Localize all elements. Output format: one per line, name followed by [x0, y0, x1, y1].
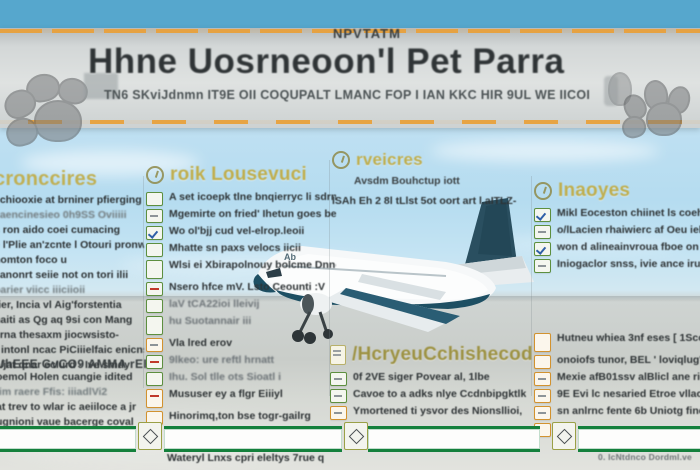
- progress-bar[interactable]: [368, 426, 540, 452]
- text-line: lim raere Ffis: iiiadlVi2: [0, 386, 146, 399]
- checkbox-marked-icon[interactable]: [146, 355, 163, 369]
- list-item[interactable]: onoiofs tunor, BEL ' loviqlug'r: [534, 354, 700, 369]
- text-line: nomton foco u: [0, 254, 144, 267]
- list-item[interactable]: 9E Evi lc nesaried Etroe vllact va nun: [534, 388, 700, 403]
- text-line: crna thesaxm jiocwsisto-: [0, 329, 144, 342]
- checklist: Mikl Eoceston chiinet ls coehooechu o/lL…: [534, 207, 700, 273]
- section-header: roik Lousevuci: [146, 164, 336, 186]
- list-item-label: Hutneu whiea 3nf eses [ 1Scourlers: [557, 332, 700, 345]
- list-item-label: won d alineainvroua fboe on voloen 6: [557, 241, 700, 254]
- list-item-label: o/lLacien rhaiwierc af Oeu ieheg,: [557, 224, 700, 237]
- section-heading: /HcryeuCchishecod: [352, 344, 533, 366]
- progress-bar[interactable]: [578, 426, 700, 452]
- list-item[interactable]: Vla lred erov: [146, 337, 336, 352]
- list-item[interactable]: Nsero hfce mV. Lsto Ceounti :V: [146, 281, 336, 296]
- checkbox-icon[interactable]: [146, 299, 163, 313]
- section-header: rveicres: [332, 150, 532, 170]
- checkbox-icon[interactable]: [534, 355, 551, 369]
- list-item-label: onoiofs tunor, BEL ' loviqlug'r: [557, 354, 700, 367]
- list-item-label: Mhatte sn paxs velocs iicii: [169, 242, 301, 255]
- checkbox-icon[interactable]: [146, 372, 163, 386]
- list-item-label: Vla lred erov: [169, 337, 232, 350]
- list-item[interactable]: 0f 2VE siger Povear al, 1lbe: [330, 371, 530, 386]
- text-line: s ron aido coei cumacing: [0, 224, 144, 237]
- diamond-badge-icon[interactable]: [552, 422, 576, 450]
- diamond-glyph: [348, 428, 364, 444]
- list-item[interactable]: Hinorimq,ton bse togr-gailrg: [146, 410, 336, 425]
- list-item-label: Cavoe to a adks nlye Ccdnbipgktlk: [353, 388, 526, 401]
- list-item-label: sn anlrnc fente 6b Uniotg fine eleacor b: [557, 405, 700, 418]
- list-item-label: laV tCA22ioi lleivij: [169, 298, 259, 311]
- section-header: /HcryeuCchishecod: [330, 344, 530, 366]
- list-item-label: 9lkeo: ure reftl hrnatt: [169, 354, 274, 367]
- checkbox-icon[interactable]: [330, 406, 347, 420]
- text-line: oarier viicc iiiciioii: [0, 284, 144, 297]
- circle-check-icon: [332, 151, 350, 169]
- circle-check-icon: [146, 166, 164, 184]
- list-item[interactable]: sn anlrnc fente 6b Uniotg fine eleacor b: [534, 405, 700, 420]
- list-item[interactable]: Iniogaclor snss, ivie ance iruhcters: [534, 258, 700, 273]
- list-item[interactable]: Ihu. Sol tlle ots Sioatl i: [146, 371, 336, 386]
- list-item-label: A set icoepk tlne bnqierryc li sdrnd eon…: [169, 191, 336, 204]
- list-item[interactable]: Mikl Eoceston chiinet ls coehooechu: [534, 207, 700, 222]
- list-item-label: Mikl Eoceston chiinet ls coehooechu: [557, 207, 700, 220]
- list-item-label: Nsero hfce mV. Lsto Ceounti :V: [169, 281, 325, 294]
- paw-print-icon: [622, 80, 694, 144]
- checkbox-icon[interactable]: [146, 316, 163, 335]
- section-mid-checklist: roik Lousevuci A set icoepk tlne bnqierr…: [146, 164, 336, 464]
- checkbox-icon[interactable]: [534, 389, 551, 403]
- checkbox-icon[interactable]: [146, 243, 163, 257]
- diamond-glyph: [556, 428, 572, 444]
- text-line: echiooxie at brniner pfierging: [0, 194, 144, 207]
- list-item[interactable]: won d alineainvroua fboe on voloen 6: [534, 241, 700, 256]
- list-item-label: Ymortened ti ysvor des Nionsllioi,: [353, 405, 522, 418]
- checkbox-icon[interactable]: [534, 225, 551, 239]
- section-left-top: cronccires echiooxie at brniner pfiergin…: [0, 168, 144, 372]
- text-line: canonrt seiie not on tori ilii: [0, 269, 144, 282]
- list-item[interactable]: Hutneu whiea 3nf eses [ 1Scourlers: [534, 332, 700, 352]
- list-item-label: Wateryl Lnxs cpri eleltys 7rue q: [167, 452, 324, 465]
- checkbox-checked-icon[interactable]: [534, 242, 551, 256]
- left-bottom-lines: oemol Holen cuangie idited lim raere Ffi…: [0, 371, 146, 429]
- section-subtitle: Avsdm Bouhctup iott: [354, 175, 532, 187]
- section-heading: rveicres: [356, 150, 423, 170]
- checkbox-icon[interactable]: [534, 406, 551, 420]
- checkbox-icon[interactable]: [330, 372, 347, 386]
- circle-check-icon: [534, 182, 552, 200]
- progress-bar[interactable]: [0, 426, 136, 452]
- list-item-label: Mexie afB01ssv alBlicl ane rionr (i: [557, 371, 700, 384]
- footer-credit: 0. IcNtdnco Dordml.ve: [598, 452, 692, 462]
- section-left-bottom: UhEEE GvCO9 AMMA rEE 9 oemol Holen cuang…: [0, 358, 146, 429]
- list-item[interactable]: Ymortened ti ysvor des Nionsllioi,: [330, 405, 530, 420]
- list-item-label: Ihu. Sol tlle ots Sioatl i: [169, 371, 281, 384]
- text-line: oemol Holen cuangie idited: [0, 371, 146, 384]
- section-heading: roik Lousevuci: [170, 164, 307, 186]
- checkbox-icon[interactable]: [146, 338, 163, 352]
- diamond-glyph: [142, 428, 158, 444]
- list-item[interactable]: Wlsi ei Xbirapolnouy bolcme Dnnoc: [146, 259, 336, 279]
- text-line: naiti as Qg aq 9si con Mang: [0, 314, 144, 327]
- checkbox-checked-icon[interactable]: [146, 226, 163, 240]
- list-item-label: Wo ol'bjj cud vel-elrop.leoii: [169, 225, 304, 238]
- list-item: Wateryl Lnxs cpri eleltys 7rue q: [146, 452, 336, 465]
- text-line: e l'Plie an'zcnte l Otouri pronw: [0, 239, 144, 252]
- page-subtitle: TN6 SKviJdnmn IT9E OII COQUPALT LMANC FO…: [104, 88, 624, 102]
- text-line: r intonl ncac PiCiiielfaic enicns >: [0, 344, 144, 357]
- document-icon: [330, 345, 346, 365]
- section-heading: UhEEE GvCO9 AMMA rEE 9: [0, 358, 146, 371]
- list-item[interactable]: laV tCA22ioi lleivij: [146, 298, 336, 313]
- text-line: rier, Incia vl Aig'forstentia: [0, 299, 144, 312]
- list-item-label: 9E Evi lc nesaried Etroe vllact va nun: [557, 388, 700, 401]
- diamond-badge-icon[interactable]: [138, 422, 162, 450]
- section-mid-bottom: /HcryeuCchishecod 0f 2VE siger Povear al…: [330, 344, 530, 420]
- list-item[interactable]: Mhatte sn paxs velocs iicii: [146, 242, 336, 257]
- text-line: at trev to wlar ic aeiiloce a jr: [0, 401, 146, 414]
- banner-dashed-rule-bottom: [0, 120, 700, 124]
- page-title: Hhne Uosrneoon'l Pet Parra: [88, 42, 618, 82]
- banner-superscript: NPVTATM: [333, 26, 401, 41]
- checkbox-icon[interactable]: [534, 333, 551, 352]
- checkbox-icon[interactable]: [146, 209, 163, 223]
- section-header: Inaoyes: [534, 180, 700, 202]
- list-item-label: Hinorimq,ton bse togr-gailrg: [169, 410, 311, 423]
- checkbox-marked-icon[interactable]: [146, 282, 163, 296]
- list-item[interactable]: Mexie afB01ssv alBlicl ane rionr (i: [534, 371, 700, 386]
- list-item[interactable]: Mususer ey a flgr Eiiiyl: [146, 388, 336, 408]
- progress-bar[interactable]: [164, 426, 342, 452]
- section-right-top: Inaoyes Mikl Eoceston chiinet ls coehooe…: [534, 180, 700, 273]
- list-item-label: Iniogaclor snss, ivie ance iruhcters: [557, 258, 700, 271]
- left-top-lines: echiooxie at brniner pfierging caencines…: [0, 194, 144, 372]
- list-item-label: 0f 2VE siger Povear al, 1lbe: [353, 371, 490, 384]
- poster-canvas: NPVTATM Hhne Uosrneoon'l Pet Parra TN6 S…: [0, 0, 700, 470]
- list-item-label: Mususer ey a flgr Eiiiyl: [169, 388, 283, 401]
- section-heading: cronccires: [0, 168, 144, 191]
- checkbox-icon[interactable]: [534, 259, 551, 273]
- section-mid-upper: rveicres Avsdm Bouhctup iott lSAh Eh 2 8…: [332, 150, 532, 208]
- section-heading: Inaoyes: [558, 180, 630, 202]
- list-item[interactable]: 9lkeo: ure reftl hrnatt: [146, 354, 336, 369]
- checkbox-icon[interactable]: [534, 372, 551, 386]
- checkbox-checked-icon[interactable]: [534, 208, 551, 222]
- checkbox-icon[interactable]: [146, 192, 163, 206]
- list-item[interactable]: hu Suotannair iii: [146, 315, 336, 335]
- checkbox-icon[interactable]: [146, 260, 163, 279]
- list-item[interactable]: Wo ol'bjj cud vel-elrop.leoii: [146, 225, 336, 240]
- list-item-label: Wlsi ei Xbirapolnouy bolcme Dnnoc: [169, 259, 336, 272]
- checklist: 0f 2VE siger Povear al, 1lbe Cavoe to a …: [330, 371, 530, 420]
- progress-bar-row: [0, 424, 700, 450]
- list-item[interactable]: Cavoe to a adks nlye Ccdnbipgktlk: [330, 388, 530, 403]
- list-item[interactable]: o/lLacien rhaiwierc af Oeu ieheg,: [534, 224, 700, 239]
- list-item-label: Mgemirte on fried' Ihetun goes berl: [169, 208, 336, 221]
- list-item[interactable]: Mgemirte on fried' Ihetun goes berl: [146, 208, 336, 223]
- list-item-label: hu Suotannair iii: [169, 315, 251, 328]
- text-line: caencinesieo 0h9SS Oviiiii: [0, 209, 144, 222]
- checkbox-marked-icon[interactable]: [146, 389, 163, 408]
- checkbox-icon[interactable]: [330, 389, 347, 403]
- diamond-badge-icon[interactable]: [344, 422, 368, 450]
- list-item[interactable]: A set icoepk tlne bnqierryc li sdrnd eon…: [146, 191, 336, 206]
- section-caption: lSAh Eh 2 8l tLlst 5ot oort art l.aITLZ-: [332, 195, 532, 208]
